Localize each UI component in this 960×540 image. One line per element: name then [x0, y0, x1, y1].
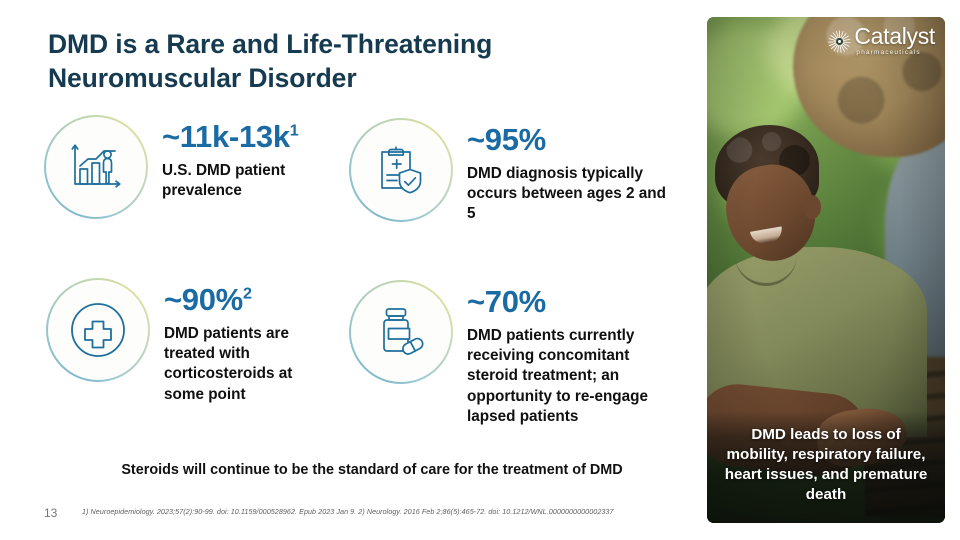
stat-card-diagnosis-age: ~95% DMD diagnosis typically occurs betw… — [349, 118, 694, 225]
stat-card-corticosteroids: ~90%2 DMD patients are treated with cort… — [46, 278, 356, 405]
stat-icon-circle — [349, 280, 453, 384]
logo-name: Catalyst — [854, 25, 935, 48]
stat-value: ~70% — [467, 286, 694, 319]
stat-card-prevalence: ~11k-13k1 U.S. DMD patient prevalence — [44, 115, 354, 219]
slide: DMD is a Rare and Life-Threatening Neuro… — [0, 0, 960, 540]
stat-value: ~95% — [467, 124, 694, 157]
stat-text-block: ~70% DMD patients currently receiving co… — [453, 280, 694, 427]
page-title: DMD is a Rare and Life-Threatening Neuro… — [48, 28, 688, 96]
stat-label: DMD patients are treated with corticoste… — [164, 324, 324, 405]
page-number: 13 — [44, 506, 57, 520]
catalyst-logo: Catalyst pharmaceuticals — [828, 25, 935, 57]
stat-text-block: ~95% DMD diagnosis typically occurs betw… — [453, 118, 694, 225]
photo-caption: DMD leads to loss of mobility, respirato… — [707, 411, 945, 523]
stat-icon-circle — [44, 115, 148, 219]
stat-value: ~11k-13k1 — [162, 121, 354, 154]
clipboard-shield-check-icon — [349, 118, 453, 222]
medical-cross-circle-icon — [46, 278, 150, 382]
stat-value: ~90%2 — [164, 284, 356, 317]
stat-label: DMD patients currently receiving concomi… — [467, 326, 673, 428]
stat-superscript: 2 — [243, 285, 252, 303]
logo-subtitle: pharmaceuticals — [856, 50, 935, 57]
stat-label: U.S. DMD patient prevalence — [162, 161, 322, 202]
logo-text: Catalyst pharmaceuticals — [854, 25, 935, 57]
stat-icon-circle — [349, 118, 453, 222]
radial-starburst-icon — [828, 30, 851, 53]
citation-footnote: 1) Neuroepidemiology. 2023;57(2):90-99. … — [82, 507, 682, 516]
stat-card-concomitant-steroid: ~70% DMD patients currently receiving co… — [349, 280, 694, 427]
stat-superscript: 1 — [290, 122, 299, 140]
photo-panel: Catalyst pharmaceuticals DMD leads to lo… — [707, 17, 945, 523]
pill-bottle-capsule-icon — [349, 280, 453, 384]
summary-statement: Steroids will continue to be the standar… — [48, 462, 696, 478]
stat-icon-circle — [46, 278, 150, 382]
stat-text-block: ~90%2 DMD patients are treated with cort… — [150, 278, 356, 405]
stat-label: DMD diagnosis typically occurs between a… — [467, 164, 673, 225]
bar-chart-person-icon — [44, 115, 148, 219]
stat-text-block: ~11k-13k1 U.S. DMD patient prevalence — [148, 115, 354, 201]
